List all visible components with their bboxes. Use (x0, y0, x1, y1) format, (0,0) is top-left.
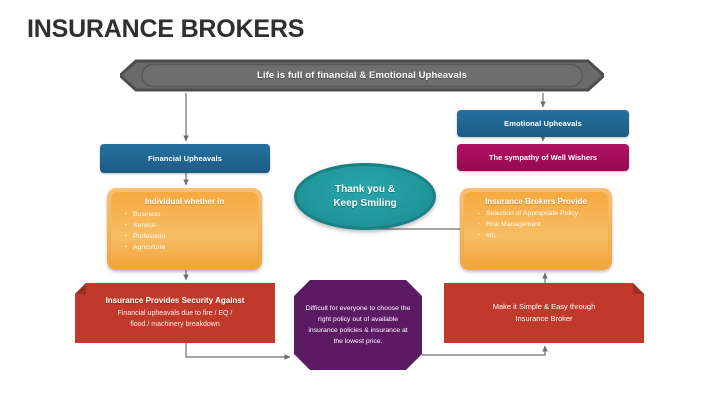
node-individual-heading: Individual whether in (145, 197, 225, 206)
node-emotional-upheavals[interactable]: Emotional Upheavals (457, 110, 629, 137)
node-brokers-provide-body: Insurance Brokers Provide Selection of A… (464, 192, 608, 266)
node-financial-upheavals-label: Financial Upheavals (148, 154, 222, 163)
node-individual-body: Individual whether in Business Service P… (111, 192, 258, 266)
node-individual[interactable]: Individual whether in Business Service P… (107, 188, 262, 270)
list-item: Service (125, 220, 166, 231)
node-thank-you-line2: Keep Smiling (333, 197, 396, 211)
node-make-simple[interactable]: Make it Simple & Easy through Insurance … (444, 283, 644, 343)
node-security-against-subtext-2: flood / machinery breakdown (130, 319, 220, 330)
node-financial-upheavals[interactable]: Financial Upheavals (100, 144, 270, 173)
node-make-simple-body: Make it Simple & Easy through Insurance … (444, 283, 644, 343)
list-item: Profession (125, 231, 166, 242)
diagram-canvas: INSURANCE BROKERS (0, 0, 720, 404)
edge-difficult-to-makesimple (422, 346, 545, 355)
node-make-simple-line2: Insurance Broker (515, 313, 572, 325)
node-individual-list: Business Service Profession Agriculture (111, 209, 166, 253)
node-emotional-upheavals-label: Emotional Upheavals (504, 119, 582, 128)
edge-security-to-difficult (186, 343, 290, 357)
node-well-wishers-label: The sympathy of Well Wishers (489, 153, 597, 162)
list-item: Selection of Appropriate Policy (478, 209, 578, 219)
list-item: Agriculture (125, 242, 166, 253)
node-thank-you-line1: Thank you & (335, 183, 395, 197)
node-security-against-body: Insurance Provides Security Against Fina… (75, 283, 275, 343)
banner: Life is full of financial & Emotional Up… (120, 58, 604, 93)
list-item: Risk Management (478, 219, 578, 230)
node-difficult-text: Difficult for everyone to choose the rig… (294, 280, 422, 370)
node-difficult[interactable]: Difficult for everyone to choose the rig… (294, 280, 422, 370)
node-security-against-subtext-1: Financial upheavals due to fire / EQ / (118, 308, 233, 319)
node-well-wishers[interactable]: The sympathy of Well Wishers (457, 144, 629, 171)
list-item: etc. (478, 230, 578, 241)
node-brokers-provide-heading: Insurance Brokers Provide (485, 197, 587, 206)
node-security-against[interactable]: Insurance Provides Security Against Fina… (75, 283, 275, 343)
node-brokers-provide-list: Selection of Appropriate Policy Risk Man… (464, 209, 578, 241)
banner-label: Life is full of financial & Emotional Up… (120, 58, 604, 93)
node-make-simple-line1: Make it Simple & Easy through (493, 301, 596, 313)
node-security-against-heading: Insurance Provides Security Against (106, 296, 245, 305)
list-item: Business (125, 209, 166, 220)
node-thank-you[interactable]: Thank you & Keep Smiling (294, 163, 436, 230)
node-brokers-provide[interactable]: Insurance Brokers Provide Selection of A… (460, 188, 612, 270)
